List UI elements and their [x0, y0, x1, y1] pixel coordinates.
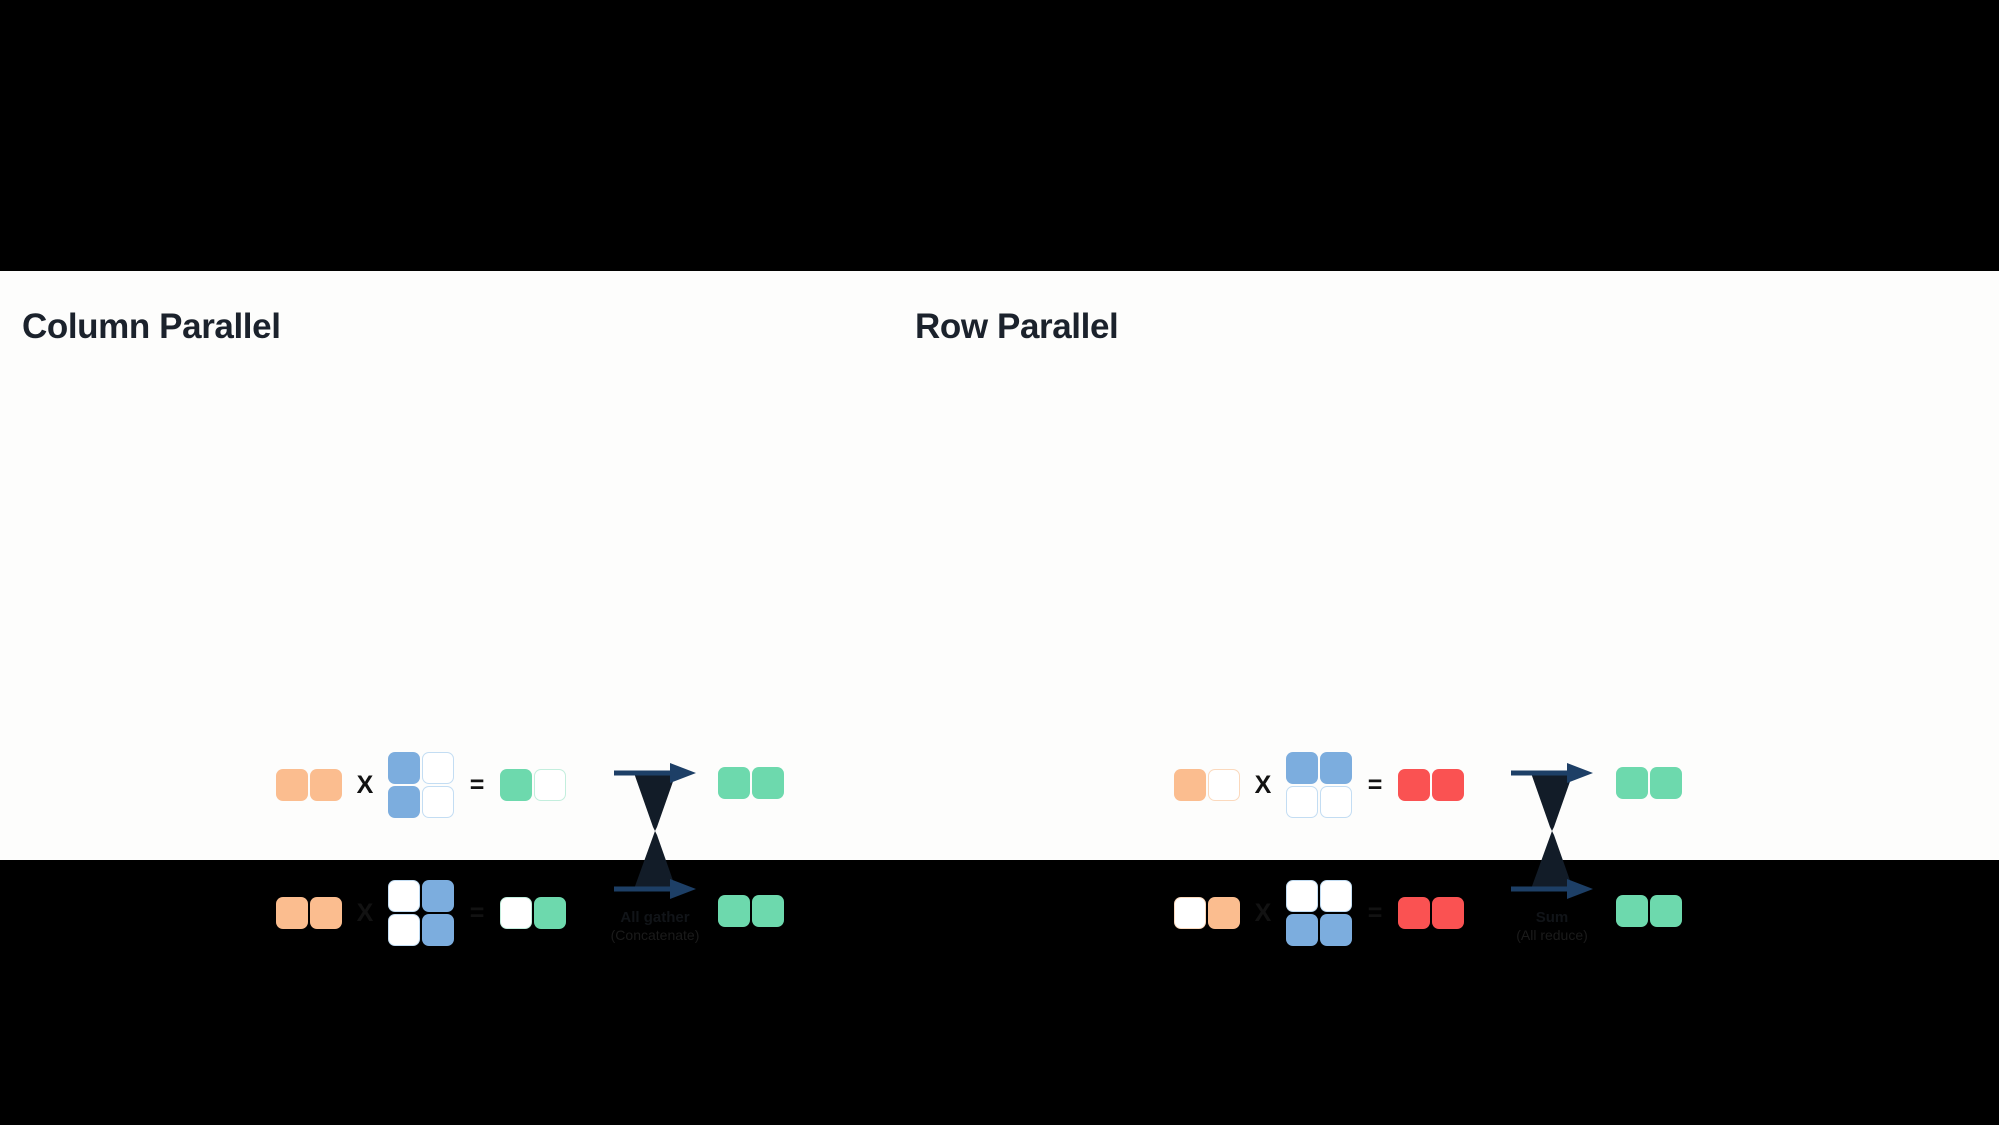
- diagram-stage: Column Parallel X =: [0, 271, 1999, 860]
- multiply-symbol: X: [1240, 773, 1286, 798]
- collective-op-subtitle: (Concatenate): [555, 927, 755, 944]
- matrix-cell: [1286, 786, 1318, 818]
- matrix-cell: [388, 786, 420, 818]
- matrix-row: [388, 752, 454, 784]
- equation-row: X =: [276, 871, 566, 955]
- bowtie-lower-triangle: [634, 831, 676, 889]
- matrix-cell: [1174, 897, 1206, 929]
- output-vector: [718, 767, 784, 799]
- matrix-row: [388, 880, 454, 912]
- matrix-cell: [310, 897, 342, 929]
- arrow-head-bottom: [670, 879, 696, 899]
- matrix-cell: [718, 895, 750, 927]
- result-vector: [1398, 769, 1464, 801]
- equals-symbol: =: [454, 773, 500, 798]
- matrix-cell: [1432, 769, 1464, 801]
- panel-row-parallel: Row Parallel X =: [900, 271, 1999, 860]
- matrix-cell: [1208, 769, 1240, 801]
- matrix-cell: [500, 769, 532, 801]
- matrix-cell: [1208, 897, 1240, 929]
- matrix-cell: [1650, 895, 1682, 927]
- matrix-cell: [718, 767, 750, 799]
- matrix-cell: [388, 914, 420, 946]
- matrix-cell: [1398, 897, 1430, 929]
- bowtie-upper-triangle: [1531, 773, 1573, 831]
- input-vector: [276, 769, 342, 801]
- equation-row: X =: [1174, 743, 1464, 827]
- matrix-cell: [1320, 880, 1352, 912]
- matrix-cell: [500, 897, 532, 929]
- arrow-head-bottom: [1567, 879, 1593, 899]
- input-vector: [1174, 897, 1240, 929]
- bowtie-lower-triangle: [1531, 831, 1573, 889]
- matrix-row: [1286, 752, 1352, 784]
- output-vector: [1616, 895, 1682, 927]
- multiply-symbol: X: [1240, 901, 1286, 926]
- matrix-row: [1286, 880, 1352, 912]
- matrix-cell: [1616, 895, 1648, 927]
- matrix-cell: [752, 767, 784, 799]
- result-vector: [500, 769, 566, 801]
- input-vector: [1174, 769, 1240, 801]
- matrix-cell: [1320, 914, 1352, 946]
- matrix-cell: [422, 752, 454, 784]
- matrix-row: [388, 914, 454, 946]
- matrix-cell: [276, 769, 308, 801]
- matrix-cell: [1174, 769, 1206, 801]
- equals-symbol: =: [1352, 901, 1398, 926]
- matrix-cell: [310, 769, 342, 801]
- matrix-cell: [752, 895, 784, 927]
- output-vector: [718, 895, 784, 927]
- matrix-cell: [422, 786, 454, 818]
- matrix-cell: [1320, 786, 1352, 818]
- bowtie-upper-triangle: [634, 773, 676, 831]
- collective-op-subtitle: (All reduce): [1452, 927, 1652, 944]
- matrix-cell: [422, 880, 454, 912]
- matrix-cell: [276, 897, 308, 929]
- collective-op-graphic: All gather (Concatenate): [612, 757, 698, 905]
- matrix-cell: [1286, 914, 1318, 946]
- output-vector: [1616, 767, 1682, 799]
- matrix-cell: [1286, 752, 1318, 784]
- matrix-row: [1286, 786, 1352, 818]
- collective-op-graphic: Sum (All reduce): [1509, 757, 1595, 905]
- matrix-cell: [1286, 880, 1318, 912]
- equals-symbol: =: [1352, 773, 1398, 798]
- matrix-cell: [1616, 767, 1648, 799]
- multiply-symbol: X: [342, 773, 388, 798]
- arrow-head-top: [1567, 763, 1593, 783]
- matrix-cell: [1398, 769, 1430, 801]
- equation-row: X =: [276, 743, 566, 827]
- multiply-symbol: X: [342, 901, 388, 926]
- weight-matrix: [388, 880, 454, 946]
- panel-title-column-parallel: Column Parallel: [22, 307, 281, 347]
- matrix-cell: [388, 880, 420, 912]
- matrix-cell: [422, 914, 454, 946]
- weight-matrix: [388, 752, 454, 818]
- matrix-row: [1286, 914, 1352, 946]
- matrix-cell: [1650, 767, 1682, 799]
- panel-title-row-parallel: Row Parallel: [915, 307, 1118, 347]
- panel-column-parallel: Column Parallel X =: [0, 271, 900, 860]
- input-vector: [276, 897, 342, 929]
- matrix-cell: [388, 752, 420, 784]
- equals-symbol: =: [454, 901, 500, 926]
- matrix-cell: [1320, 752, 1352, 784]
- letterbox-top-bar: [0, 0, 1999, 271]
- matrix-row: [388, 786, 454, 818]
- matrix-cell: [534, 769, 566, 801]
- weight-matrix: [1286, 880, 1352, 946]
- weight-matrix: [1286, 752, 1352, 818]
- arrow-head-top: [670, 763, 696, 783]
- equation-row: X =: [1174, 871, 1464, 955]
